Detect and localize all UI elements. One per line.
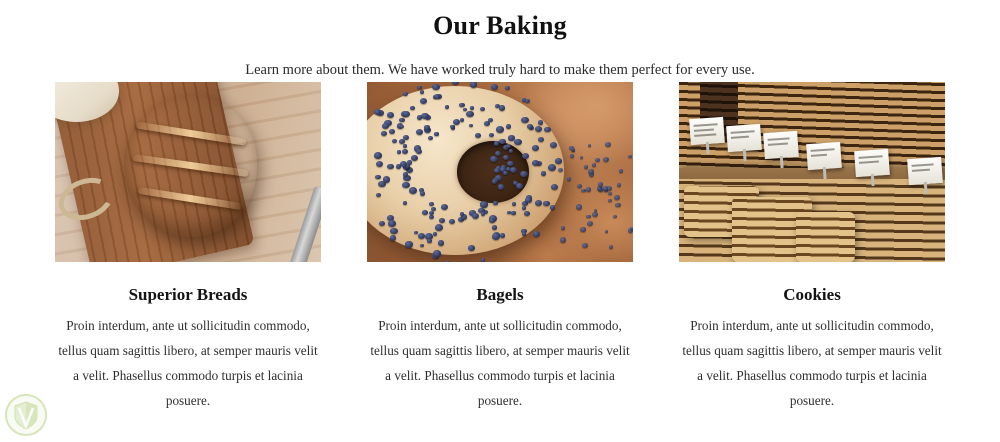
price-tag (763, 131, 799, 159)
cards-row: Superior Breads Proin interdum, ante ut … (55, 82, 945, 413)
card-title: Superior Breads (55, 262, 321, 306)
watermark-logo (4, 393, 48, 437)
card-image-bagels[interactable] (367, 82, 633, 262)
bagel-photo (367, 82, 633, 262)
price-tag (806, 142, 842, 170)
cookie-stack (796, 212, 855, 262)
loaf-score-line (132, 154, 249, 177)
price-tag (726, 124, 762, 152)
section-subtitle: Learn more about them. We have worked tr… (0, 42, 1000, 80)
card-image-superior-breads[interactable] (55, 82, 321, 262)
card-bagels[interactable]: Bagels Proin interdum, ante ut sollicitu… (367, 82, 633, 413)
card-description: Proin interdum, ante ut sollicitudin com… (367, 306, 633, 413)
bagel-hole (457, 141, 529, 202)
card-description: Proin interdum, ante ut sollicitudin com… (679, 306, 945, 413)
card-title: Bagels (367, 262, 633, 306)
card-description: Proin interdum, ante ut sollicitudin com… (55, 306, 321, 413)
card-title: Cookies (679, 262, 945, 306)
sourdough-loaf (124, 96, 257, 236)
section-header: Our Baking Learn more about them. We hav… (0, 0, 1000, 80)
bread-photo (55, 82, 321, 262)
cookie-stacks-lower (679, 179, 945, 262)
card-cookies[interactable]: ✱ galeta ✱ gal (679, 82, 945, 413)
price-tag (907, 156, 943, 184)
cookies-photo: ✱ galeta ✱ gal (679, 82, 945, 262)
page-title: Our Baking (0, 10, 1000, 42)
card-superior-breads[interactable]: Superior Breads Proin interdum, ante ut … (55, 82, 321, 413)
loaf-score-line (138, 186, 244, 210)
price-tag (689, 117, 725, 145)
loaf-score-line (135, 121, 246, 145)
price-tag (854, 149, 890, 177)
card-image-cookies[interactable]: ✱ galeta ✱ gal (679, 82, 945, 262)
